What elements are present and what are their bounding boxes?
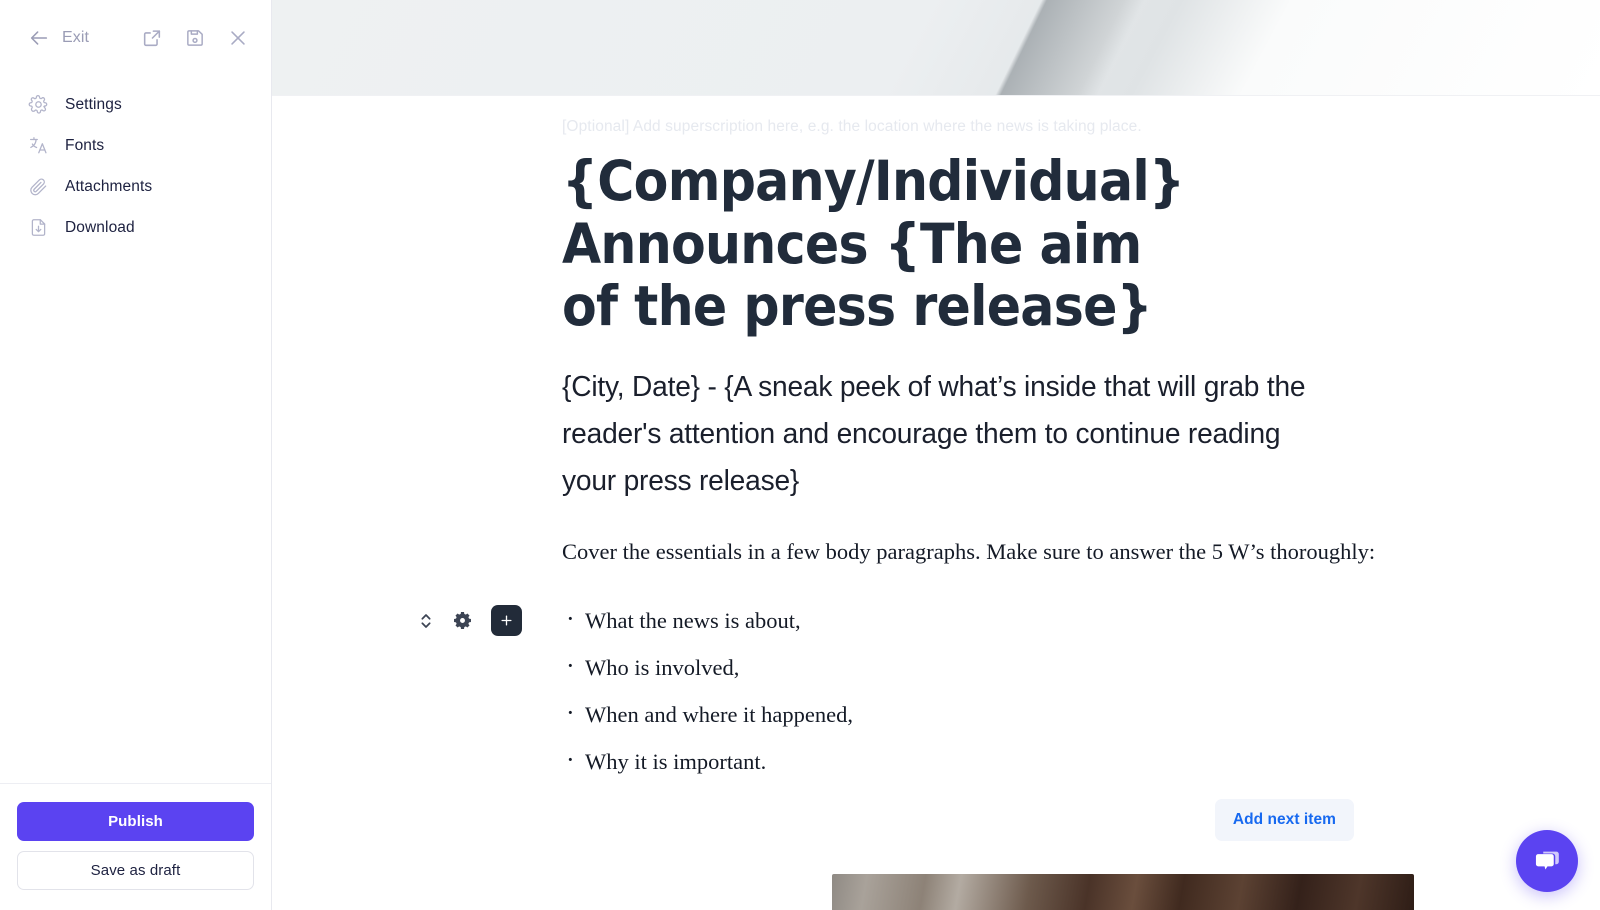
superscription-placeholder[interactable]: [Optional] Add superscription here, e.g.…: [562, 96, 1540, 136]
lede-paragraph[interactable]: {City, Date} - {A sneak peek of what’s i…: [562, 364, 1338, 505]
sidebar-item-label: Settings: [65, 96, 122, 114]
plus-icon: [499, 613, 514, 628]
sidebar-spacer: [0, 248, 271, 783]
sidebar-top-actions: [141, 27, 249, 49]
arrow-left-icon: [28, 27, 50, 49]
sidebar-item-settings[interactable]: Settings: [0, 84, 271, 125]
document-canvas: [Optional] Add superscription here, e.g.…: [272, 0, 1600, 910]
sidebar-toolbar: Exit: [0, 0, 271, 76]
sidebar-item-label: Download: [65, 219, 135, 237]
sidebar-nav: Settings Fonts: [0, 76, 271, 248]
translate-font-icon: [28, 135, 49, 156]
headline[interactable]: {Company/Individual} Announces {The aim …: [562, 150, 1206, 338]
block-toolbar: [418, 605, 522, 636]
body-paragraph[interactable]: Cover the essentials in a few body parag…: [562, 534, 1382, 570]
paperclip-icon: [28, 176, 49, 197]
exit-label: Exit: [62, 29, 89, 47]
list-item[interactable]: Why it is important.: [562, 738, 1540, 785]
gear-icon: [28, 94, 49, 115]
exit-button[interactable]: Exit: [28, 27, 89, 49]
chat-bubbles-icon: [1532, 846, 1562, 876]
list-item[interactable]: What the news is about,: [562, 597, 1540, 644]
sidebar-item-download[interactable]: Download: [0, 207, 271, 248]
add-next-item-button[interactable]: Add next item: [1215, 799, 1354, 841]
bullet-list-block: What the news is about, Who is involved,…: [562, 597, 1540, 785]
save-icon[interactable]: [184, 27, 206, 49]
body-image-block[interactable]: [832, 874, 1414, 910]
preview-icon[interactable]: [141, 27, 163, 49]
hero-image[interactable]: [272, 0, 1600, 96]
close-icon[interactable]: [227, 27, 249, 49]
download-file-icon: [28, 217, 49, 238]
list-item[interactable]: Who is involved,: [562, 644, 1540, 691]
publish-button[interactable]: Publish: [17, 802, 254, 841]
save-as-draft-button[interactable]: Save as draft: [17, 851, 254, 890]
add-next-item-row: Add next item: [562, 799, 1540, 841]
sidebar-item-label: Fonts: [65, 137, 104, 155]
block-settings-gear-icon[interactable]: [453, 611, 472, 630]
sidebar: Exit: [0, 0, 272, 910]
press-release-document: [Optional] Add superscription here, e.g.…: [272, 96, 1600, 841]
chat-widget-button[interactable]: [1516, 830, 1578, 892]
list-item[interactable]: When and where it happened,: [562, 691, 1540, 738]
sidebar-item-attachments[interactable]: Attachments: [0, 166, 271, 207]
drag-handle-icon[interactable]: [418, 610, 434, 632]
bullet-list: What the news is about, Who is involved,…: [562, 597, 1540, 785]
sidebar-item-label: Attachments: [65, 178, 152, 196]
add-block-button[interactable]: [491, 605, 522, 636]
sidebar-footer: Publish Save as draft: [0, 783, 271, 910]
press-release-editor: Exit: [0, 0, 1600, 910]
sidebar-item-fonts[interactable]: Fonts: [0, 125, 271, 166]
